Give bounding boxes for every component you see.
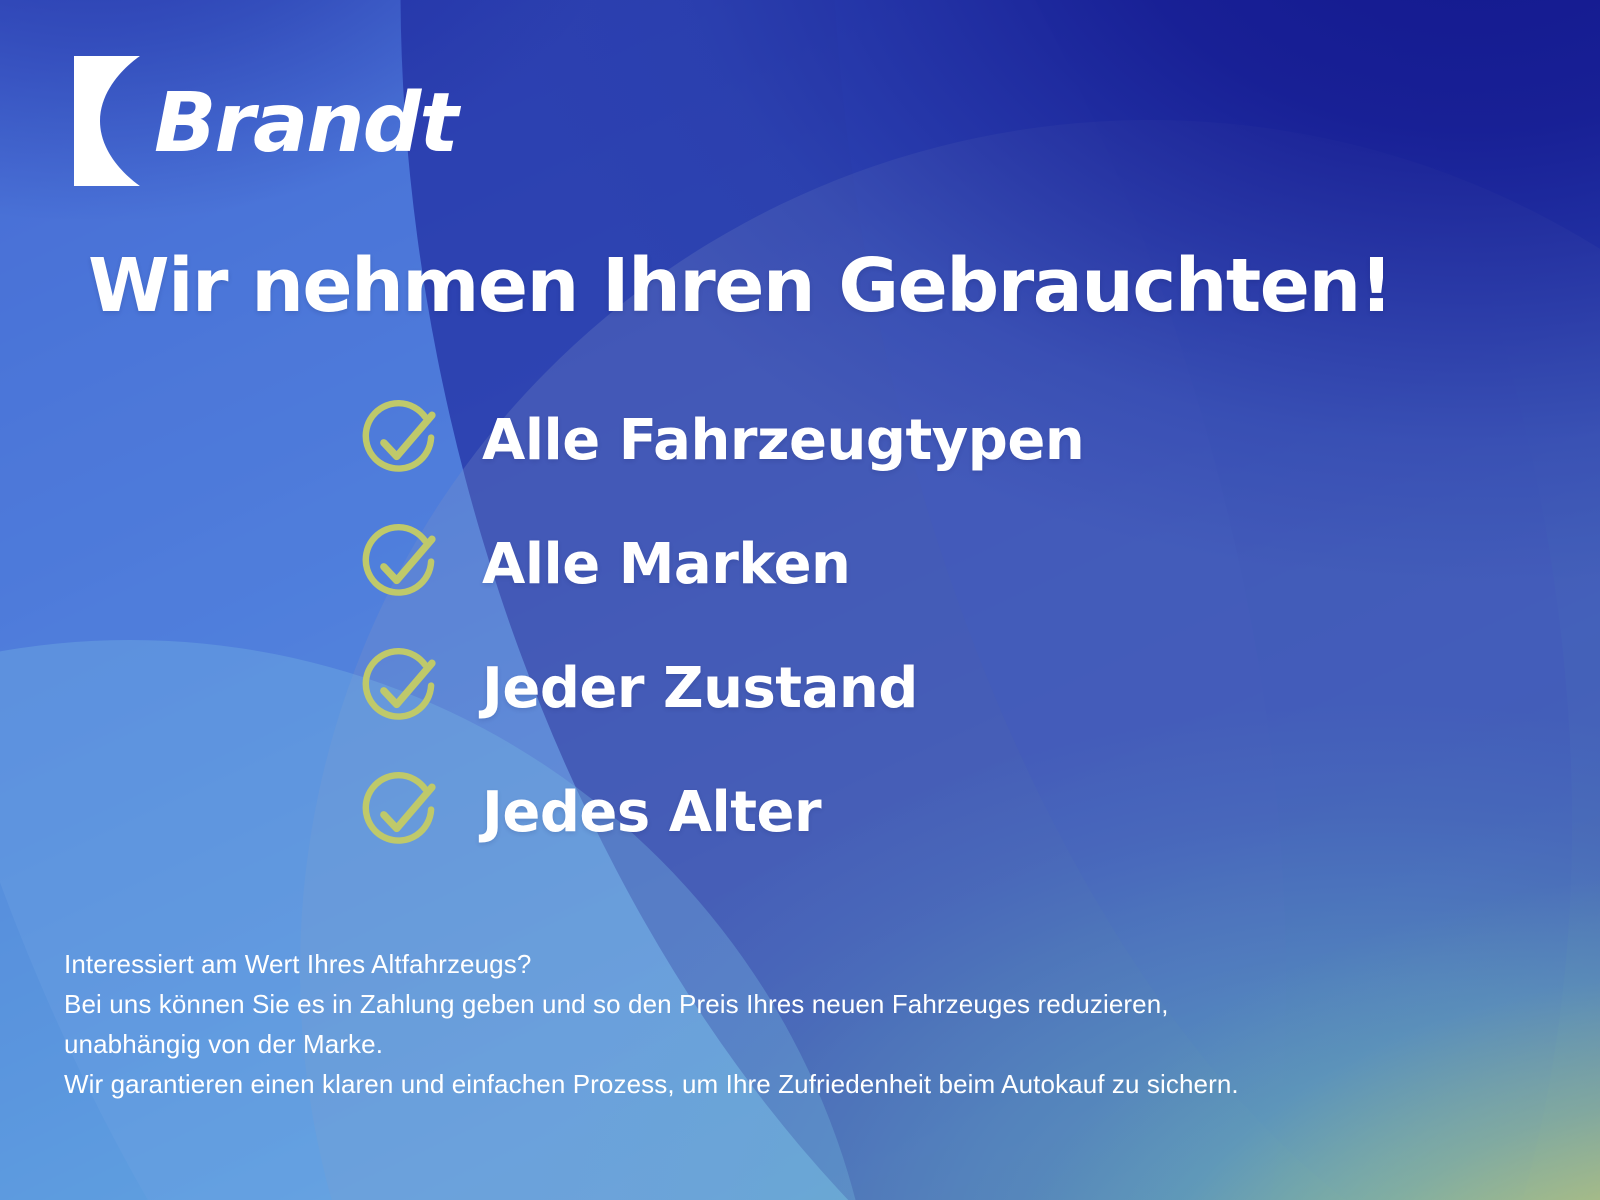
benefits-list: Alle Fahrzeugtypen Alle Marken <box>358 398 1084 856</box>
benefit-label: Jeder Zustand <box>482 661 918 717</box>
brandt-bracket-mark-icon <box>74 56 150 186</box>
footer-line: Wir garantieren einen klaren und einfach… <box>64 1064 1239 1104</box>
benefit-label: Alle Marken <box>482 537 850 593</box>
benefit-label: Jedes Alter <box>482 785 821 841</box>
check-circle-icon <box>358 646 444 732</box>
list-item: Jeder Zustand <box>358 646 1084 732</box>
check-circle-icon <box>358 522 444 608</box>
list-item: Jedes Alter <box>358 770 1084 856</box>
brand-name: Brandt <box>154 83 457 165</box>
footer-line: Bei uns können Sie es in Zahlung geben u… <box>64 984 1239 1024</box>
benefit-label: Alle Fahrzeugtypen <box>482 413 1084 469</box>
check-circle-icon <box>358 398 444 484</box>
footer-description: Interessiert am Wert Ihres Altfahrzeugs?… <box>64 944 1239 1104</box>
footer-line: Interessiert am Wert Ihres Altfahrzeugs? <box>64 944 1239 984</box>
banner-content: Brandt Wir nehmen Ihren Gebrauchten! All… <box>0 0 1600 1200</box>
check-circle-icon <box>358 770 444 856</box>
list-item: Alle Fahrzeugtypen <box>358 398 1084 484</box>
footer-line: unabhängig von der Marke. <box>64 1024 1239 1064</box>
promo-banner: Brandt Wir nehmen Ihren Gebrauchten! All… <box>0 0 1600 1200</box>
brand-logo: Brandt <box>74 56 457 186</box>
list-item: Alle Marken <box>358 522 1084 608</box>
page-title: Wir nehmen Ihren Gebrauchten! <box>88 248 1392 326</box>
